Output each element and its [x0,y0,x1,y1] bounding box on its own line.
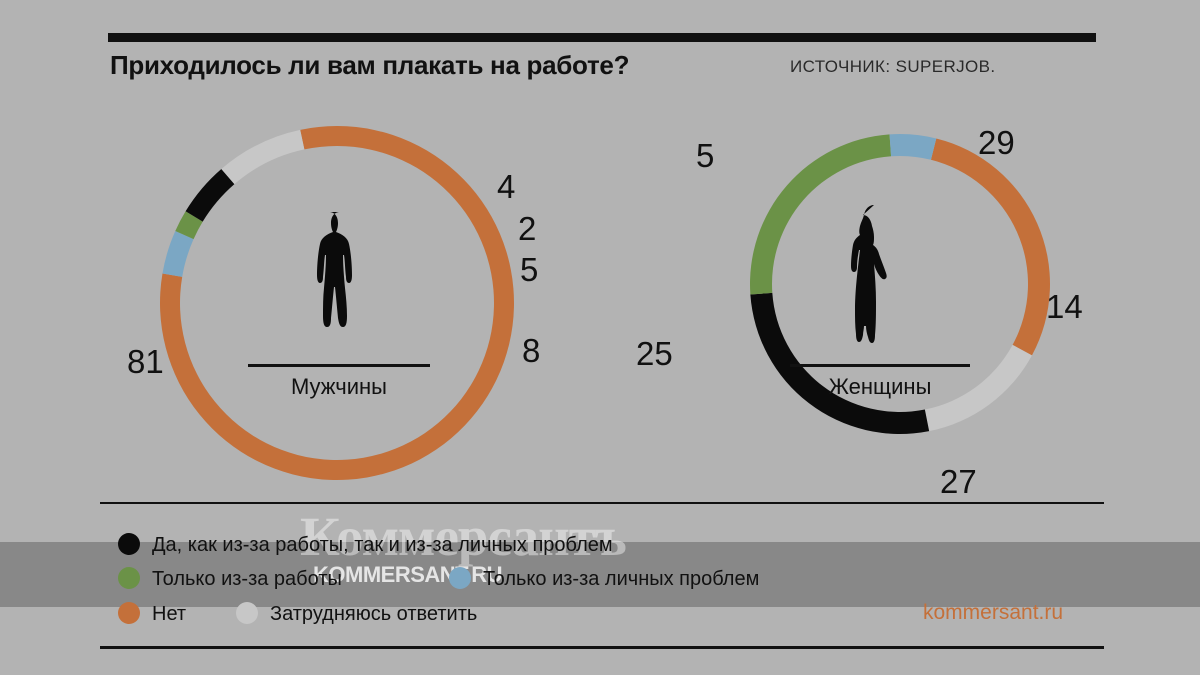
legend-swatch-unsure [236,602,258,624]
arc-slice [186,169,235,222]
legend-label-work: Только из-за работы [152,568,342,591]
page-title: Приходилось ли вам плакать на работе? [110,50,629,81]
legend-swatch-both [118,533,140,555]
legend-label-both: Да, как из-за работы, так и из-за личных… [152,534,613,557]
men-value-nyet: 81 [127,345,164,378]
men-value-personal: 4 [497,170,515,203]
men-value-work: 2 [518,212,536,245]
legend-swatch-work [118,567,140,589]
legend-label-personal: Только из-за личных проблем [483,568,759,591]
arc-slice [931,138,1050,355]
arc-slice [890,134,937,160]
women-value-nyet: 29 [978,126,1015,159]
men-caption-rule [248,364,430,367]
women-value-unsure: 14 [1046,290,1083,323]
women-value-work: 25 [636,337,673,370]
middle-rule [100,502,1104,504]
arc-slice [221,130,304,184]
infographic-canvas: Приходилось ли вам плакать на работе? ИС… [0,0,1200,675]
male-silhouette-icon [305,208,375,358]
bottom-rule [100,646,1104,649]
women-caption-rule [790,364,970,367]
legend-label-unsure: Затрудняюсь ответить [270,603,477,626]
men-value-both: 5 [520,253,538,286]
legend-label-no: Нет [152,603,186,626]
men-caption: Мужчины [248,374,430,400]
legend-swatch-personal [449,567,471,589]
female-silhouette-icon [838,203,908,358]
women-value-personal: 5 [696,139,714,172]
arc-slice [162,231,193,277]
top-rule [108,33,1096,42]
site-url[interactable]: kommersant.ru [923,601,1063,625]
women-caption: Женщины [790,374,970,400]
men-value-unsure: 8 [522,334,540,367]
legend-swatch-no [118,602,140,624]
women-value-both: 27 [940,465,977,498]
source-label: ИСТОЧНИК: SUPERJOB. [790,57,996,77]
